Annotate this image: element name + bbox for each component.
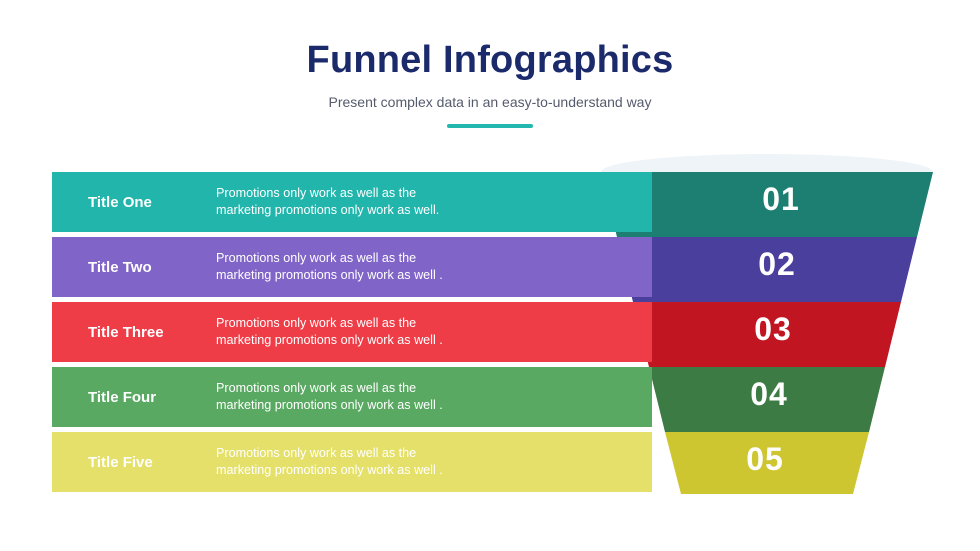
page-title: Funnel Infographics [0, 40, 980, 82]
stage-description-line2: marketing promotions only work as well . [216, 267, 443, 284]
stage-description-line1: Promotions only work as well as the [216, 380, 443, 397]
stage-description-line2: marketing promotions only work as well . [216, 332, 443, 349]
funnel-stage-row[interactable]: Title Three Promotions only work as well… [52, 302, 932, 362]
funnel-stage-row[interactable]: Title One Promotions only work as well a… [52, 172, 932, 232]
stage-description-line2: marketing promotions only work as well. [216, 202, 439, 219]
stage-title-4: Title Four [52, 389, 214, 406]
stage-description-line2: marketing promotions only work as well . [216, 462, 443, 479]
slide-canvas: Funnel Infographics Present complex data… [0, 0, 980, 551]
slide-header: Funnel Infographics Present complex data… [0, 40, 980, 128]
title-underline-rule [447, 124, 533, 128]
stage-title-3: Title Three [52, 324, 214, 341]
stage-band-3[interactable]: Title Three Promotions only work as well… [52, 302, 652, 362]
funnel-diagram: Title One Promotions only work as well a… [52, 160, 932, 500]
funnel-stage-row[interactable]: Title Four Promotions only work as well … [52, 367, 932, 427]
stage-description-4: Promotions only work as well as the mark… [214, 380, 443, 414]
funnel-stage-row[interactable]: Title Two Promotions only work as well a… [52, 237, 932, 297]
stage-band-1[interactable]: Title One Promotions only work as well a… [52, 172, 652, 232]
stage-band-5[interactable]: Title Five Promotions only work as well … [52, 432, 652, 492]
stage-band-4[interactable]: Title Four Promotions only work as well … [52, 367, 652, 427]
page-subtitle: Present complex data in an easy-to-under… [0, 94, 980, 110]
stage-description-line1: Promotions only work as well as the [216, 315, 443, 332]
stage-band-2[interactable]: Title Two Promotions only work as well a… [52, 237, 652, 297]
stage-description-line2: marketing promotions only work as well . [216, 397, 443, 414]
stage-description-line1: Promotions only work as well as the [216, 445, 443, 462]
stage-description-line1: Promotions only work as well as the [216, 250, 443, 267]
stage-description-5: Promotions only work as well as the mark… [214, 445, 443, 479]
stage-description-1: Promotions only work as well as the mark… [214, 185, 439, 219]
stage-description-line1: Promotions only work as well as the [216, 185, 439, 202]
stage-description-2: Promotions only work as well as the mark… [214, 250, 443, 284]
stage-description-3: Promotions only work as well as the mark… [214, 315, 443, 349]
stage-title-2: Title Two [52, 259, 214, 276]
funnel-stage-row[interactable]: Title Five Promotions only work as well … [52, 432, 932, 492]
stage-title-5: Title Five [52, 454, 214, 471]
stage-title-1: Title One [52, 194, 214, 211]
